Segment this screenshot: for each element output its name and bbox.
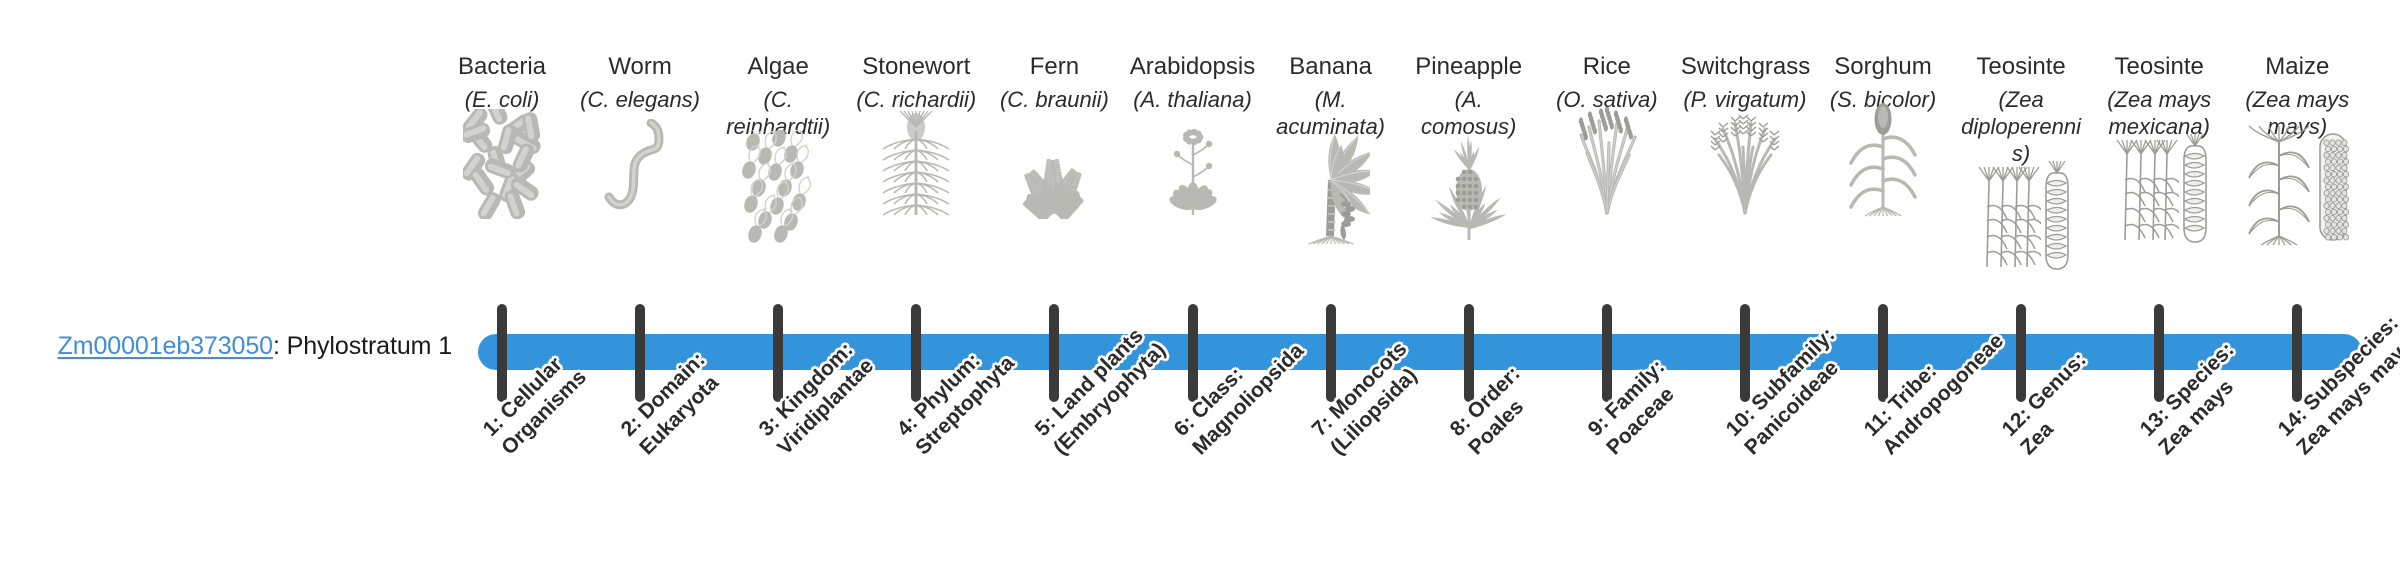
species-common-name: Arabidopsis [1129,52,1257,82]
species-common-name: Algae [714,52,842,82]
taxonomy-index: 3: [755,411,784,440]
timeline-tick[interactable] [1188,304,1198,402]
taxonomy-index: 9: [1584,411,1613,440]
species-common-name: Teosinte [2095,52,2223,82]
species-column: Teosinte(Zea mays mexicana) [2095,52,2223,246]
species-column: Sorghum(S. bicolor) [1819,52,1947,219]
taxonomy-index: 7: [1307,411,1336,440]
taxonomy-index: 11: [1860,404,1897,441]
taxonomy-index: 1: [479,411,508,440]
species-common-name: Teosinte [1957,52,2085,82]
sorghum-plant-icon [1819,119,1947,219]
phylogeny-timeline-track [478,334,2362,370]
species-scientific-name: (A. thaliana) [1129,86,1257,113]
bacteria-rods-icon [438,119,566,219]
species-column: Maize(Zea mays mays) [2233,52,2361,246]
species-common-name: Sorghum [1819,52,1947,82]
species-column: Bacteria(E. coli) [438,52,566,219]
timeline-tick[interactable] [773,304,783,402]
teosinte-plant-ear-icon [2095,146,2223,246]
phylostratum-timeline-figure: Zm00001eb373050: Phylostratum 1 Bacteria… [0,0,2400,580]
species-column: Stonewort(C. richardii) [852,52,980,219]
species-scientific-name: (C. elegans) [576,86,704,113]
gene-phylostratum-label: Zm00001eb373050: Phylostratum 1 [0,332,452,361]
phylostratum-value: Phylostratum 1 [287,332,452,360]
species-scientific-name: (A. comosus) [1405,86,1533,140]
taxonomy-rank-name: Family: Poaceae [1601,355,1679,459]
taxonomy-index: 10: [1722,403,1760,441]
timeline-tick[interactable] [635,304,645,402]
timeline-tick[interactable] [497,304,507,402]
species-column: Rice(O. sativa) [1543,52,1671,219]
timeline-tick[interactable] [2292,304,2302,402]
species-column: Arabidopsis(A. thaliana) [1129,52,1257,219]
species-common-name: Banana [1267,52,1395,82]
pineapple-plant-icon [1405,146,1533,246]
species-common-name: Bacteria [438,52,566,82]
gene-id-link[interactable]: Zm00001eb373050 [58,332,273,360]
timeline-tick[interactable] [1740,304,1750,402]
stonewort-icon [852,119,980,219]
species-column: Switchgrass(P. virgatum) [1681,52,1809,219]
species-column: Algae(C. reinhardtii) [714,52,842,246]
timeline-tick[interactable] [1049,304,1059,402]
timeline-tick[interactable] [911,304,921,402]
fern-icon [990,119,1118,219]
species-column: Teosinte(Zea diploperennis) [1957,52,2085,273]
nematode-worm-icon [576,119,704,219]
species-common-name: Maize [2233,52,2361,82]
timeline-tick[interactable] [1326,304,1336,402]
green-algae-cells-icon [714,146,842,246]
taxonomy-index: 14: [2274,403,2312,441]
taxonomy-index: 2: [617,411,646,440]
rice-plant-icon [1543,119,1671,219]
banana-plant-icon [1267,146,1395,246]
timeline-tick[interactable] [1602,304,1612,402]
taxonomy-index: 4: [893,411,922,440]
maize-plant-ear-icon [2233,146,2361,246]
timeline-tick[interactable] [1464,304,1474,402]
taxonomy-index: 12: [1998,403,2036,441]
species-common-name: Switchgrass [1681,52,1809,82]
taxonomy-index: 5: [1031,411,1060,440]
taxonomy-index: 8: [1445,411,1474,440]
switchgrass-icon [1681,119,1809,219]
timeline-tick[interactable] [2016,304,2026,402]
taxonomy-index: 6: [1169,411,1198,440]
species-common-name: Worm [576,52,704,82]
species-scientific-name: (Zea diploperennis) [1957,86,2085,167]
species-column: Banana(M. acuminata) [1267,52,1395,246]
species-common-name: Fern [990,52,1118,82]
species-common-name: Rice [1543,52,1671,82]
timeline-tick[interactable] [1878,304,1888,402]
species-common-name: Stonewort [852,52,980,82]
taxonomy-index: 13: [2136,403,2174,441]
teosinte-plant-ear-icon [1957,173,2085,273]
timeline-tick[interactable] [2154,304,2164,402]
species-column: Pineapple(A. comosus) [1405,52,1533,246]
gene-label-separator: : [273,332,287,360]
arabidopsis-icon [1129,119,1257,219]
species-column: Fern(C. braunii) [990,52,1118,219]
species-common-name: Pineapple [1405,52,1533,82]
species-column: Worm(C. elegans) [576,52,704,219]
